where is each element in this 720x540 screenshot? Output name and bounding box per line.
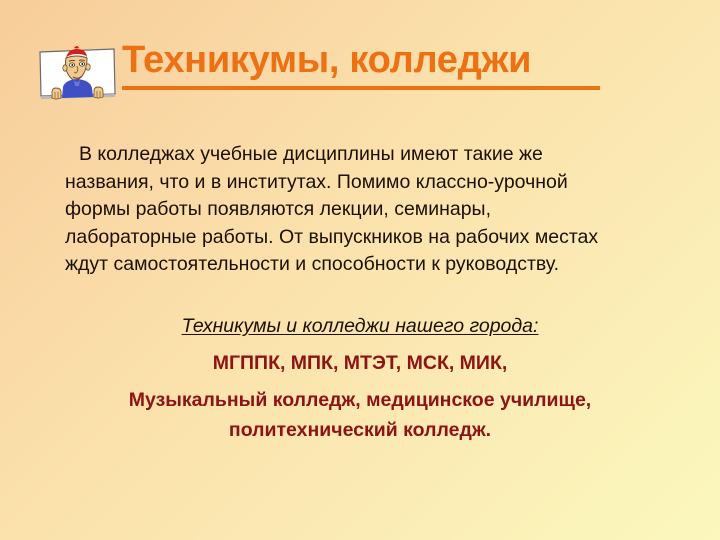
page-title: Техникумы, колледжи: [122, 36, 531, 84]
colleges-line-1: Музыкальный колледж, медицинское училище…: [0, 389, 720, 412]
subtitle-line: Техникумы и колледжи нашего города:: [0, 315, 720, 338]
cartoon-man-holding-sign-icon: [36, 44, 118, 106]
title-underline-rule: [122, 86, 600, 90]
subtitle-text: Техникумы и колледжи нашего города:: [182, 315, 539, 337]
slide-canvas: Техникумы, колледжи В колледжах учебные …: [0, 0, 720, 540]
body-paragraph: В колледжах учебные дисциплины имеют так…: [65, 141, 605, 279]
abbreviations-line: МГППК, МПК, МТЭТ, МСК, МИК,: [0, 352, 720, 375]
colleges-line-2: политехнический колледж.: [0, 419, 720, 442]
slide-title-block: Техникумы, колледжи: [0, 36, 720, 108]
